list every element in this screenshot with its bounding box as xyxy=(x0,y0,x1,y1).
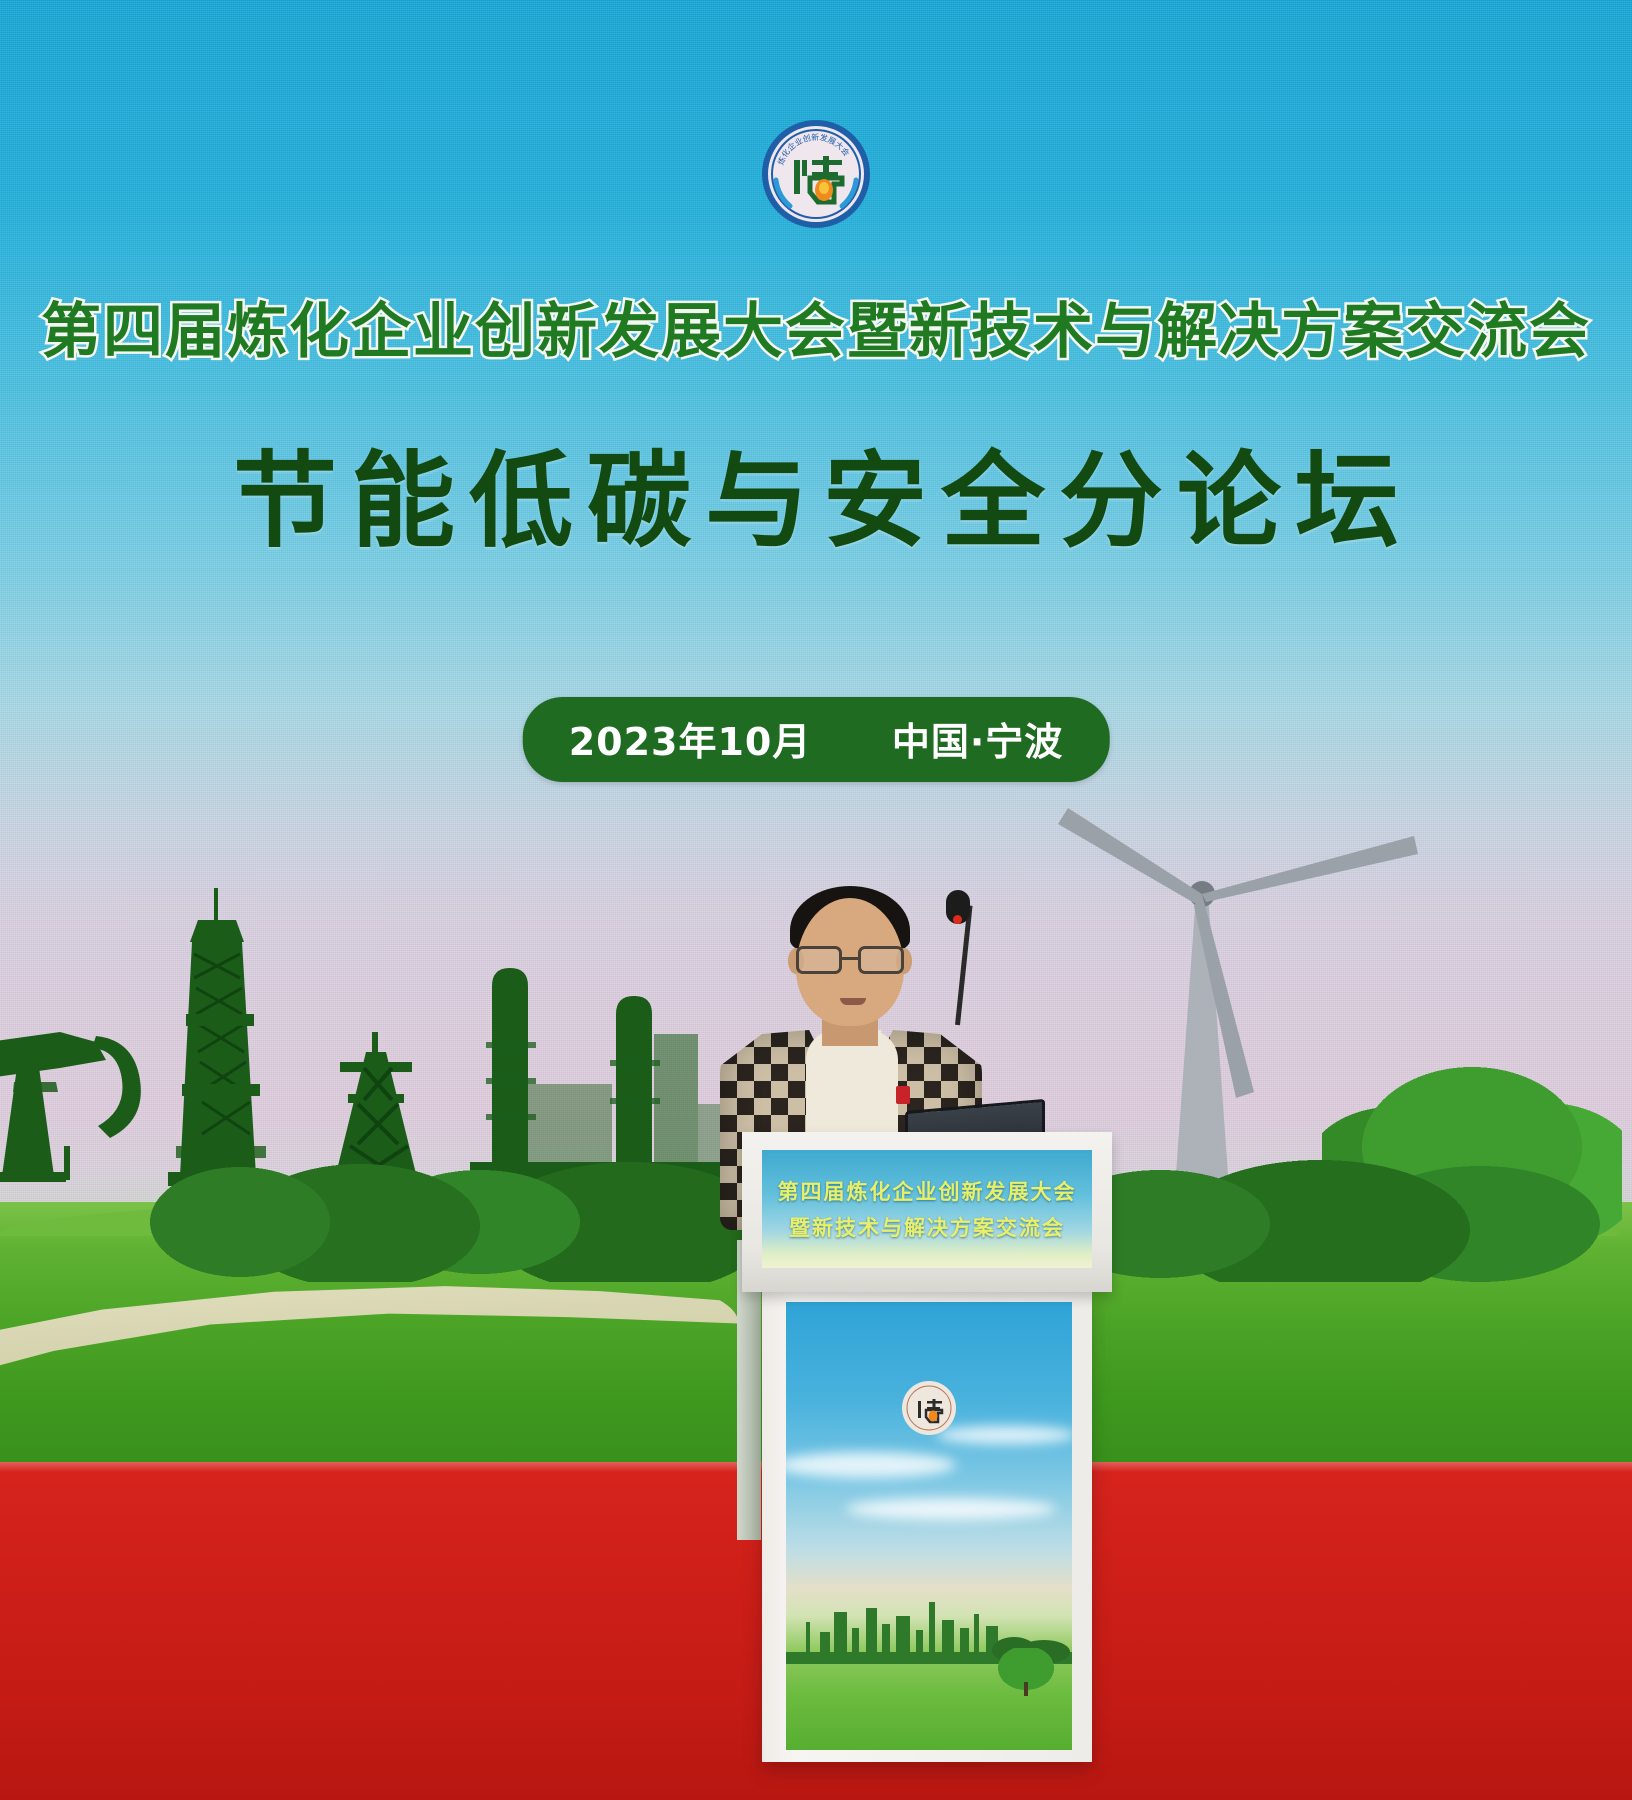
lectern-banner-line2: 暨新技术与解决方案交流会 xyxy=(789,1212,1065,1242)
eyeglasses-icon xyxy=(792,946,910,976)
badge-location: 中国·宁波 xyxy=(892,720,1063,764)
conference-emblem-icon: 炼化企业创新发展大会 xyxy=(760,118,872,230)
microphone-indicator-light xyxy=(953,915,962,924)
badge-date: 2023年10月 xyxy=(569,720,812,764)
lectern-banner: 第四届炼化企业创新发展大会 暨新技术与解决方案交流会 xyxy=(762,1150,1092,1268)
panel-cloud-1 xyxy=(786,1452,956,1478)
date-location-badge: 2023年10月 中国·宁波 xyxy=(523,697,1110,782)
lectern-top: 第四届炼化企业创新发展大会 暨新技术与解决方案交流会 xyxy=(742,1132,1112,1292)
lectern-body xyxy=(762,1292,1092,1762)
lens-left xyxy=(796,946,842,974)
panel-emblem-icon xyxy=(901,1380,957,1436)
lapel-badge-icon xyxy=(896,1086,910,1104)
panel-cloud-2 xyxy=(846,1498,1056,1520)
drilling-rig-icon xyxy=(168,888,272,1186)
lectern-front-panel xyxy=(786,1302,1072,1750)
lens-right xyxy=(858,946,904,974)
backdrop-headline: 节能低碳与安全分论坛 xyxy=(219,416,1413,567)
panel-tree xyxy=(998,1648,1054,1694)
speaker-mouth xyxy=(840,998,866,1005)
stage-scene: 炼化企业创新发展大会 第四届炼化企业创新发展大会暨新技术与解决方案交流会 节能低… xyxy=(0,0,1632,1800)
lectern-banner-line1: 第四届炼化企业创新发展大会 xyxy=(778,1176,1077,1206)
backdrop-title-line: 第四届炼化企业创新发展大会暨新技术与解决方案交流会 xyxy=(41,283,1591,370)
glasses-bridge xyxy=(842,957,858,960)
